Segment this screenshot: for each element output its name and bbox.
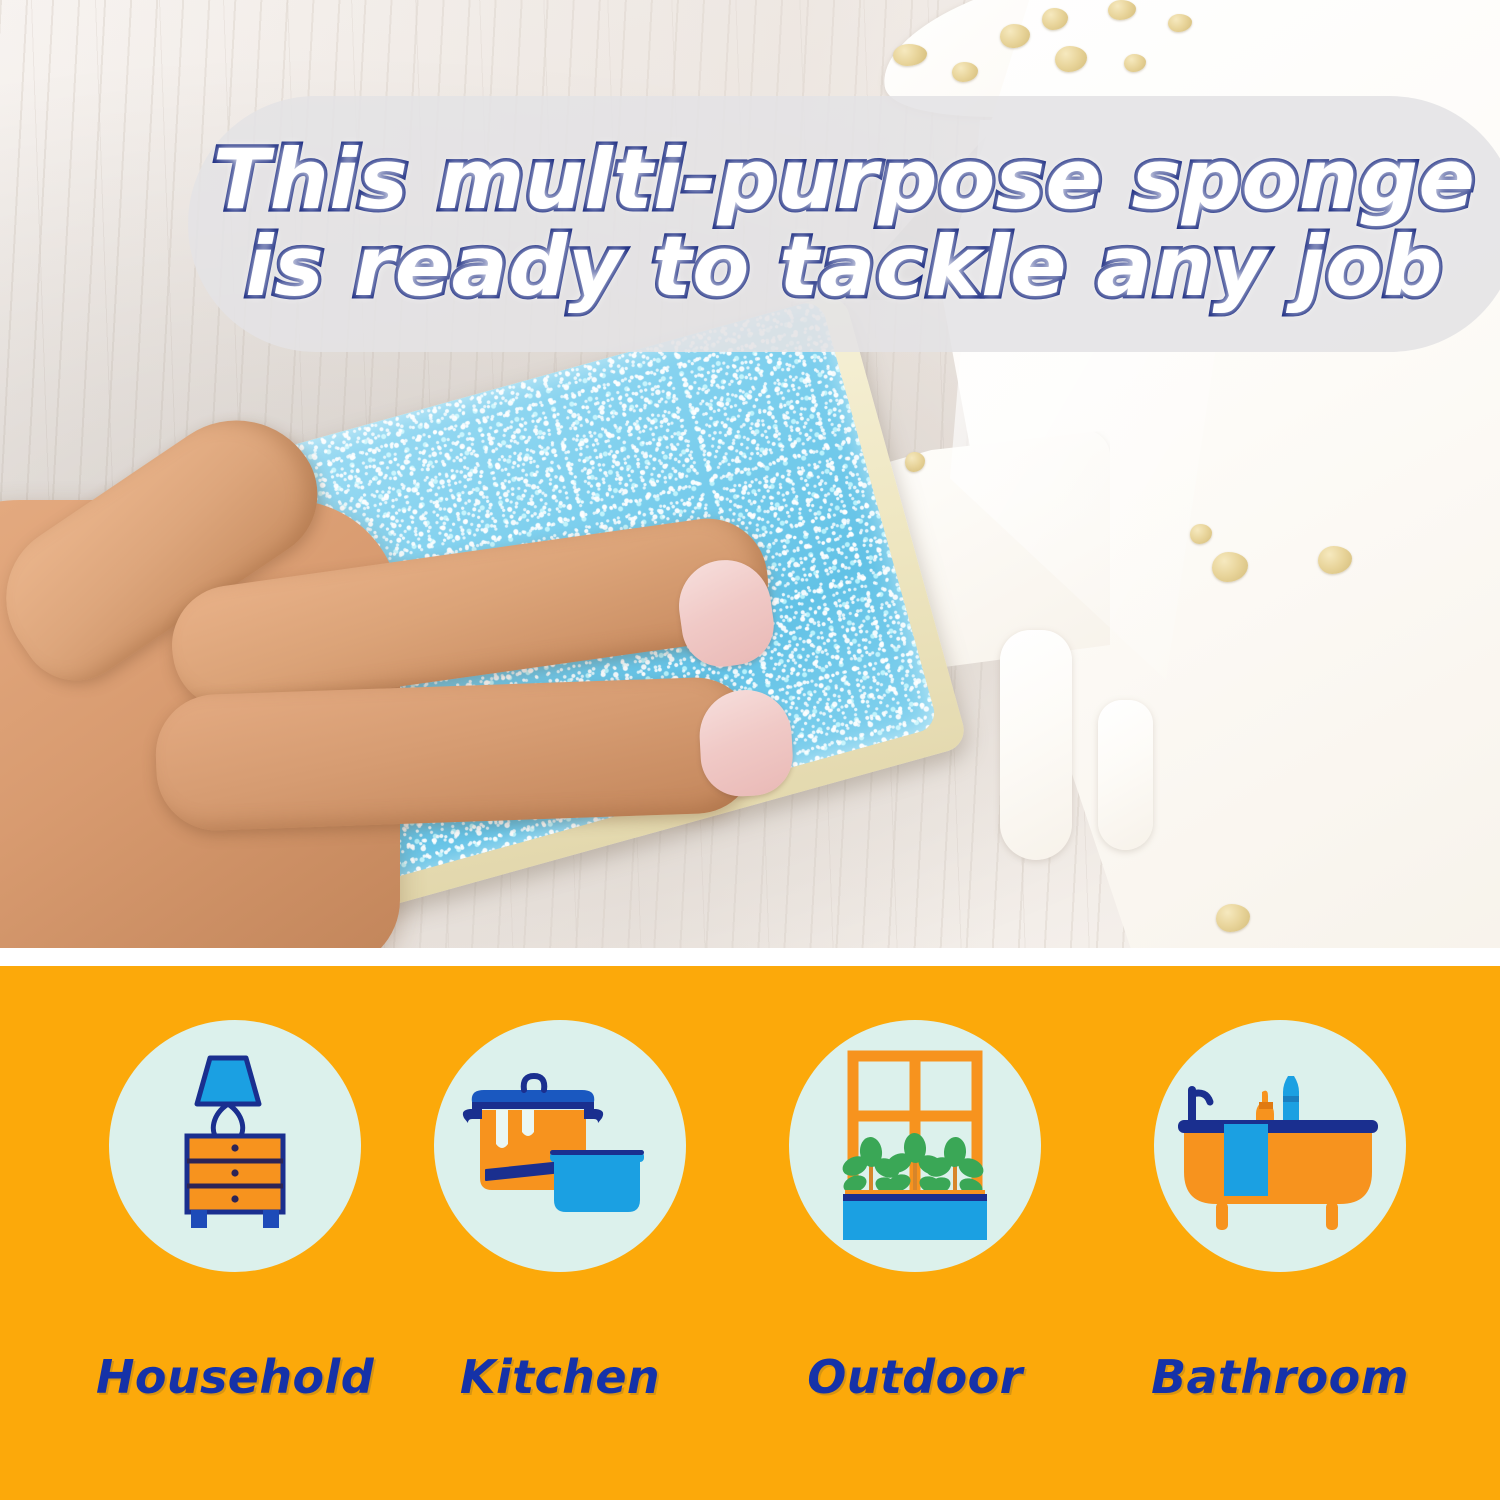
icon-circle-kitchen xyxy=(434,1020,686,1272)
headline-line-1: This multi-purpose sponge xyxy=(213,138,1476,223)
use-case-kitchen[interactable]: Kitchen xyxy=(410,1020,710,1440)
hand-middle-finger xyxy=(154,676,758,833)
window-planter-icon xyxy=(789,1020,1041,1272)
use-case-grid: Household xyxy=(0,966,1500,1500)
use-case-bathroom[interactable]: Bathroom xyxy=(1130,1020,1430,1440)
section-divider xyxy=(0,948,1500,966)
icon-circle-outdoor xyxy=(789,1020,1041,1272)
icon-circle-household xyxy=(109,1020,361,1272)
nightstand-lamp-icon xyxy=(109,1020,361,1272)
use-case-label-kitchen: Kitchen xyxy=(460,1350,660,1404)
headline-line-2: is ready to tackle any job xyxy=(245,225,1443,310)
use-case-label-outdoor: Outdoor xyxy=(807,1350,1022,1404)
use-case-household[interactable]: Household xyxy=(85,1020,385,1440)
use-case-section: Household xyxy=(0,966,1500,1500)
use-case-label-household: Household xyxy=(96,1350,374,1404)
use-case-label-bathroom: Bathroom xyxy=(1151,1350,1409,1404)
bathtub-icon xyxy=(1154,1020,1406,1272)
icon-circle-bathroom xyxy=(1154,1020,1406,1272)
pots-pans-icon xyxy=(434,1020,686,1272)
use-case-outdoor[interactable]: Outdoor xyxy=(765,1020,1065,1440)
product-photo: This multi-purpose sponge is ready to ta… xyxy=(0,0,1500,948)
headline: This multi-purpose sponge is ready to ta… xyxy=(188,96,1500,352)
